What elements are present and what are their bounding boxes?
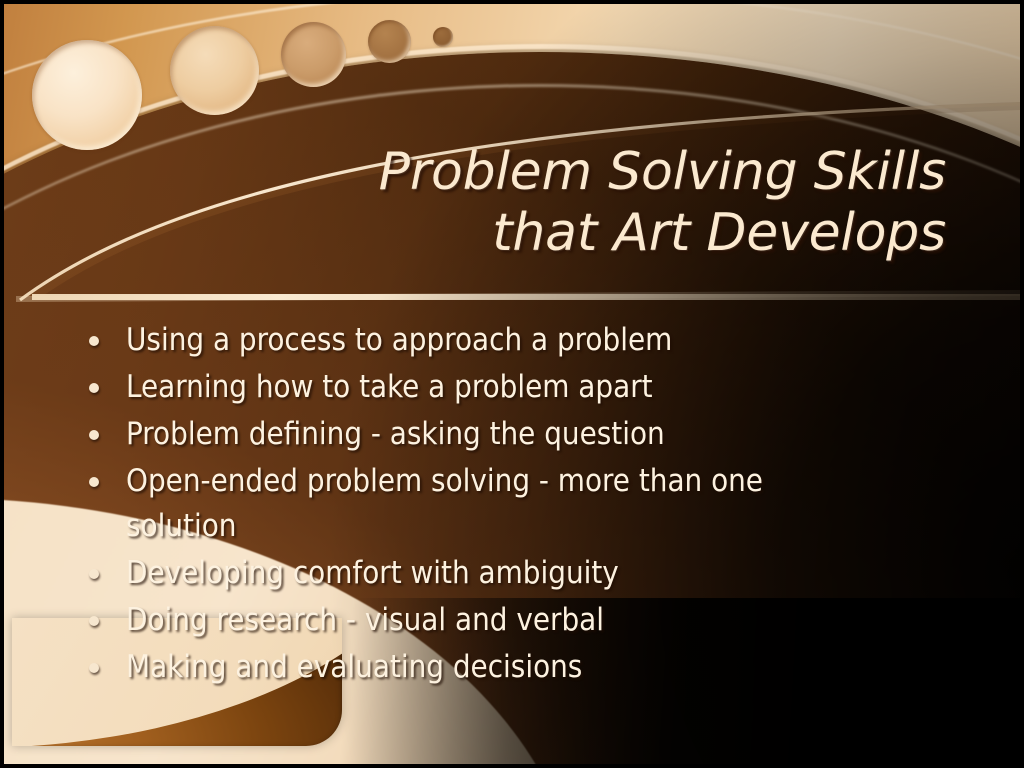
bullet-dot-icon xyxy=(89,477,99,487)
bullet-dot-icon xyxy=(89,569,99,579)
bullet-text: Doing research - visual and verbal xyxy=(126,602,604,638)
bullet-item-2: Learning how to take a problem apart xyxy=(80,365,880,410)
presentation-slide: Problem Solving Skills that Art Develops… xyxy=(0,0,1024,768)
bullet-text: Open-ended problem solving - more than o… xyxy=(126,463,763,544)
bullet-text: Making and evaluating decisions xyxy=(126,649,582,685)
bullet-dot-icon xyxy=(89,663,99,673)
bullet-item-4: Open-ended problem solving - more than o… xyxy=(80,459,880,549)
slide-title: Problem Solving Skills that Art Develops xyxy=(326,142,946,265)
bullet-text: Learning how to take a problem apart xyxy=(126,369,653,405)
bullet-item-1: Using a process to approach a problem xyxy=(80,318,880,363)
bullet-item-5: Developing comfort with ambiguity xyxy=(80,551,880,596)
bullet-dot-icon xyxy=(89,336,99,346)
bullet-dot-icon xyxy=(89,383,99,393)
bullet-item-7: Making and evaluating decisions xyxy=(80,645,880,690)
slide-canvas: Problem Solving Skills that Art Develops… xyxy=(0,0,1024,768)
bullet-text: Problem defining - asking the question xyxy=(126,416,665,452)
bullet-text: Using a process to approach a problem xyxy=(126,322,672,358)
bullet-text: Developing comfort with ambiguity xyxy=(126,555,619,591)
bullet-dot-icon xyxy=(89,616,99,626)
bullet-item-3: Problem defining - asking the question xyxy=(80,412,880,457)
bullet-item-6: Doing research - visual and verbal xyxy=(80,598,880,643)
slide-bullet-list: Using a process to approach a problem Le… xyxy=(80,318,880,692)
bullet-dot-icon xyxy=(89,430,99,440)
